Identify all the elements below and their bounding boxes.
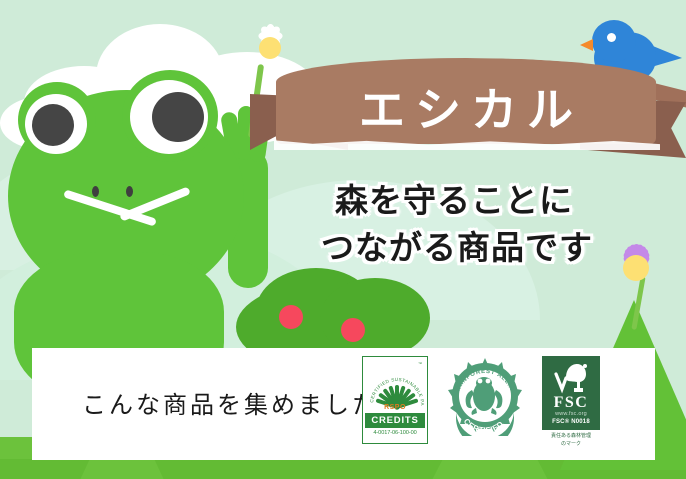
rspo-logo: CERTIFIED SUSTAINABLE PALM OIL ™ RSPO CR [362, 356, 428, 444]
headline-line-1: 森を守ることに [284, 178, 624, 225]
flower-center [623, 255, 649, 281]
ribbon-banner: エシカル [250, 58, 686, 168]
berry [341, 318, 365, 342]
bird-beak [580, 39, 593, 51]
frog-nostril [92, 186, 99, 197]
fsc-url: www.fsc.org [542, 411, 600, 417]
berry [279, 305, 303, 329]
headline: 森を守ることに つながる商品です [284, 178, 624, 272]
fsc-caption: 責任ある森林管理 のマーク [542, 430, 600, 448]
flower-center [259, 37, 281, 59]
headline-line-2: つながる商品です [290, 225, 624, 272]
rspo-license-code: 4-0017-06-100-00 [365, 428, 425, 436]
trademark-symbol: ™ [418, 361, 422, 366]
footer-bar: こんな商品を集めました CERTIFIED SUSTAINABLE PALM O… [32, 348, 655, 460]
fsc-logo: FSC www.fsc.org FSC® N0018 責任ある森林管理 のマーク [542, 356, 600, 448]
certification-logos: CERTIFIED SUSTAINABLE PALM OIL ™ RSPO CR [362, 356, 642, 452]
fsc-tree-checkmark-icon [553, 362, 589, 396]
rspo-emblem: CERTIFIED SUSTAINABLE PALM OIL ™ RSPO [365, 359, 425, 413]
fsc-license-code: FSC® N0018 [542, 419, 600, 425]
frog-pupil [152, 92, 204, 142]
ethical-product-banner: エシカル 森を守ることに つながる商品です こんな商品を集めました CERTIF… [0, 0, 686, 479]
frog-nostril [126, 186, 133, 197]
rspo-wordmark: RSPO [365, 404, 425, 411]
frog-pupil [32, 104, 74, 146]
ribbon-label: エシカル [276, 58, 656, 144]
rainforest-alliance-seal: RAINFOREST ALLIANCE CERTIFIED [446, 356, 524, 436]
rainforest-alliance-logo: RAINFOREST ALLIANCE CERTIFIED [446, 356, 524, 436]
rspo-credits-band: CREDITS [365, 413, 425, 428]
fsc-caption-line-2: のマーク [542, 441, 600, 449]
fsc-wordmark: FSC [542, 394, 600, 412]
fsc-badge: FSC www.fsc.org FSC® N0018 [542, 356, 600, 430]
footer-caption: こんな商品を集めました [82, 385, 379, 420]
berry-bush [320, 278, 430, 358]
bird-eye [607, 33, 616, 42]
fsc-caption-line-1: 責任ある森林管理 [542, 433, 600, 441]
